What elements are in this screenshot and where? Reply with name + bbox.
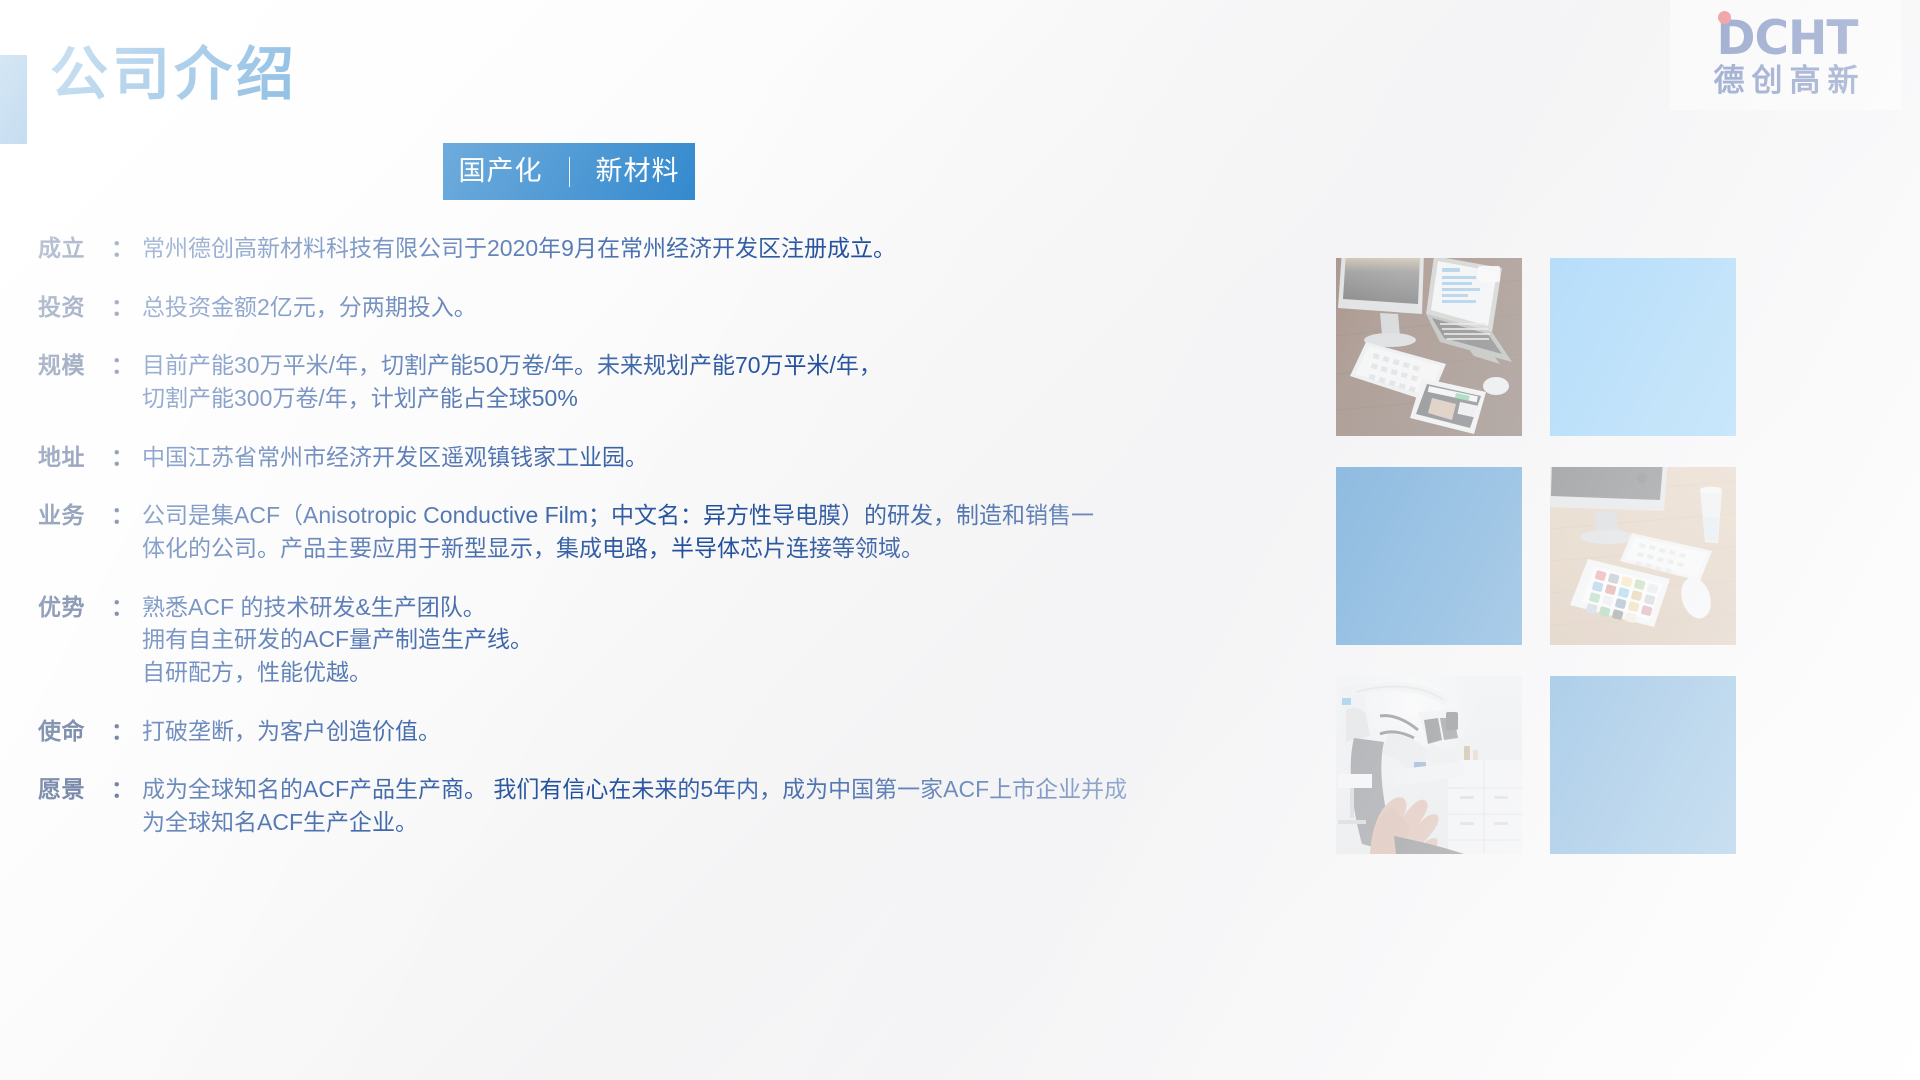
tag-banner-right-label: 新材料: [596, 158, 680, 185]
intro-row-label: 规模: [38, 349, 110, 382]
intro-row-label: 愿景: [38, 773, 110, 806]
intro-row-investment: 投资 ： 总投资金额2亿元，分两期投入。: [38, 291, 1318, 324]
intro-row-line: 自研配方，性能优越。: [142, 656, 1318, 689]
intro-row-label: 投资: [38, 291, 110, 324]
tag-banner-left-label: 国产化: [459, 158, 543, 185]
intro-row-label: 业务: [38, 499, 110, 532]
desk-imac-keyboard-tablet-photo: [1550, 467, 1736, 645]
intro-row-line: 成为全球知名的ACF产品生产商。 我们有信心在未来的5年内，成为中国第一家ACF…: [142, 773, 1318, 806]
intro-row-colon: ：: [110, 499, 142, 532]
intro-row-line: 中国江苏省常州市经济开发区遥观镇钱家工业园。: [142, 441, 1318, 474]
dark-blue-block: [1550, 676, 1736, 854]
intro-row-line: 熟悉ACF 的技术研发&生产团队。: [142, 591, 1318, 624]
logo-chinese-name: 德创高新: [1707, 65, 1866, 96]
intro-row-founding: 成立 ： 常州德创高新材料科技有限公司于2020年9月在常州经济开发区注册成立。: [38, 232, 1318, 265]
intro-row-line: 切割产能300万卷/年，计划产能占全球50%: [142, 382, 1318, 415]
intro-row-colon: ：: [110, 291, 142, 324]
intro-row-label: 使命: [38, 715, 110, 748]
intro-row-vision: 愿景 ： 成为全球知名的ACF产品生产商。 我们有信心在未来的5年内，成为中国第…: [38, 773, 1318, 838]
intro-row-line: 打破垄断，为客户创造价值。: [142, 715, 1318, 748]
intro-row-body: 成为全球知名的ACF产品生产商。 我们有信心在未来的5年内，成为中国第一家ACF…: [142, 773, 1318, 838]
intro-row-line: 总投资金额2亿元，分两期投入。: [142, 291, 1318, 324]
slide-canvas: 公司介绍 DCHT 德创高新 国产化 新材料 成立 ： 常州德创高新材料科技有限…: [0, 0, 1920, 1080]
intro-row-label: 地址: [38, 441, 110, 474]
intro-row-line: 目前产能30万平米/年，切割产能50万卷/年。未来规划产能70万平米/年，: [142, 349, 1318, 382]
intro-row-advantage: 优势 ： 熟悉ACF 的技术研发&生产团队。 拥有自主研发的ACF量产制造生产线…: [38, 591, 1318, 689]
intro-row-colon: ：: [110, 715, 142, 748]
intro-row-line: 公司是集ACF（Anisotropic Conductive Film；中文名：…: [142, 499, 1318, 532]
intro-row-colon: ：: [110, 232, 142, 265]
tag-banner: 国产化 新材料: [443, 143, 695, 200]
logo-red-dot-icon: [1718, 11, 1731, 24]
intro-row-body: 常州德创高新材料科技有限公司于2020年9月在常州经济开发区注册成立。: [142, 232, 1318, 265]
title-accent-bar: [0, 55, 27, 144]
intro-row-line: 常州德创高新材料科技有限公司于2020年9月在常州经济开发区注册成立。: [142, 232, 1318, 265]
intro-row-body: 总投资金额2亿元，分两期投入。: [142, 291, 1318, 324]
intro-row-address: 地址 ： 中国江苏省常州市经济开发区遥观镇钱家工业园。: [38, 441, 1318, 474]
intro-row-line: 拥有自主研发的ACF量产制造生产线。: [142, 623, 1318, 656]
intro-row-body: 中国江苏省常州市经济开发区遥观镇钱家工业园。: [142, 441, 1318, 474]
intro-row-label: 优势: [38, 591, 110, 624]
intro-row-colon: ：: [110, 773, 142, 806]
intro-row-label: 成立: [38, 232, 110, 265]
intro-row-scale: 规模 ： 目前产能30万平米/年，切割产能50万卷/年。未来规划产能70万平米/…: [38, 349, 1318, 414]
light-blue-block: [1550, 258, 1736, 436]
intro-row-body: 目前产能30万平米/年，切割产能50万卷/年。未来规划产能70万平米/年， 切割…: [142, 349, 1318, 414]
intro-row-body: 熟悉ACF 的技术研发&生产团队。 拥有自主研发的ACF量产制造生产线。 自研配…: [142, 591, 1318, 689]
logo-wordmark: DCHT: [1715, 15, 1858, 62]
company-intro-list: 成立 ： 常州德创高新材料科技有限公司于2020年9月在常州经济开发区注册成立。…: [38, 232, 1318, 865]
intro-row-body: 公司是集ACF（Anisotropic Conductive Film；中文名：…: [142, 499, 1318, 564]
tag-banner-divider: [569, 157, 570, 187]
page-title: 公司介绍: [50, 46, 298, 104]
dark-blue-block: [1336, 467, 1522, 645]
intro-row-colon: ：: [110, 349, 142, 382]
logo-wordmark-row: DCHT: [1715, 15, 1858, 62]
intro-row-colon: ：: [110, 441, 142, 474]
intro-row-business: 业务 ： 公司是集ACF（Anisotropic Conductive Film…: [38, 499, 1318, 564]
intro-row-line: 体化的公司。产品主要应用于新型显示，集成电路，半导体芯片连接等领域。: [142, 532, 1318, 565]
image-mosaic: [1336, 258, 1798, 891]
intro-row-mission: 使命 ： 打破垄断，为客户创造价值。: [38, 715, 1318, 748]
company-logo: DCHT 德创高新: [1670, 0, 1902, 110]
dental-chair-hand-photo: [1336, 676, 1522, 854]
intro-row-colon: ：: [110, 591, 142, 624]
intro-row-body: 打破垄断，为客户创造价值。: [142, 715, 1318, 748]
desk-imac-laptop-tablet-photo: [1336, 258, 1522, 436]
intro-row-line: 为全球知名ACF生产企业。: [142, 806, 1318, 839]
